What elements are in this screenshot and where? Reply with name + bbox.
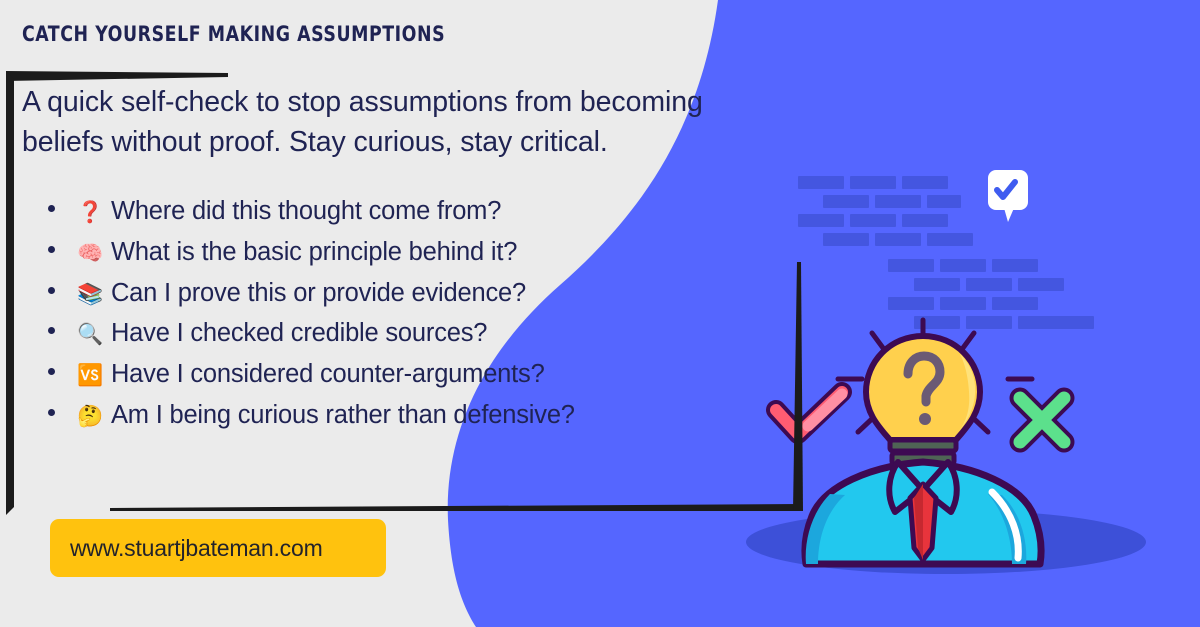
intro-paragraph: A quick self-check to stop assumptions f… [22, 82, 752, 163]
vs-button-emoji: 🆚 [77, 365, 103, 386]
bullet-icon [48, 205, 55, 212]
website-url-label: www.stuartjbateman.com [50, 535, 323, 562]
businessman-torso [805, 462, 1041, 564]
list-item: ❓ Where did this thought come from? [22, 191, 762, 232]
list-item: 🧠 What is the basic principle behind it? [22, 232, 762, 273]
list-item: 🆚 Have I considered counter-arguments? [22, 354, 762, 395]
brain-emoji: 🧠 [77, 243, 103, 264]
books-emoji: 📚 [77, 284, 103, 305]
list-item: 🔍 Have I checked credible sources? [22, 313, 762, 354]
bullet-icon [48, 368, 55, 375]
list-item: 📚 Can I prove this or provide evidence? [22, 273, 762, 314]
checklist: ❓ Where did this thought come from? 🧠 Wh… [22, 191, 762, 436]
green-cross [1020, 398, 1064, 442]
content-column: CATCH YOURSELF MAKING ASSUMPTIONS A quic… [22, 22, 762, 436]
page-title: CATCH YOURSELF MAKING ASSUMPTIONS [22, 22, 703, 46]
list-item-label: What is the basic principle behind it? [111, 232, 517, 273]
brick-wall [798, 176, 1094, 329]
list-item-label: Where did this thought come from? [111, 191, 501, 232]
list-item-label: Can I prove this or provide evidence? [111, 273, 526, 314]
graphic-canvas: CATCH YOURSELF MAKING ASSUMPTIONS A quic… [0, 0, 1200, 627]
pink-checkmark [776, 392, 842, 434]
bullet-icon [48, 327, 55, 334]
bullet-icon [48, 409, 55, 416]
magnifying-glass-emoji: 🔍 [77, 324, 103, 345]
bullet-icon [48, 287, 55, 294]
check-speech-bubble [988, 170, 1028, 222]
list-item: 🤔 Am I being curious rather than defensi… [22, 395, 762, 436]
bullet-icon [48, 246, 55, 253]
list-item-label: Have I checked credible sources? [111, 313, 487, 354]
assumptions-illustration [720, 140, 1160, 580]
website-url-button[interactable]: www.stuartjbateman.com [50, 519, 386, 577]
thinking-face-emoji: 🤔 [77, 406, 103, 427]
question-mark-emoji: ❓ [77, 202, 103, 223]
list-item-label: Have I considered counter-arguments? [111, 354, 545, 395]
list-item-label: Am I being curious rather than defensive… [111, 395, 575, 436]
